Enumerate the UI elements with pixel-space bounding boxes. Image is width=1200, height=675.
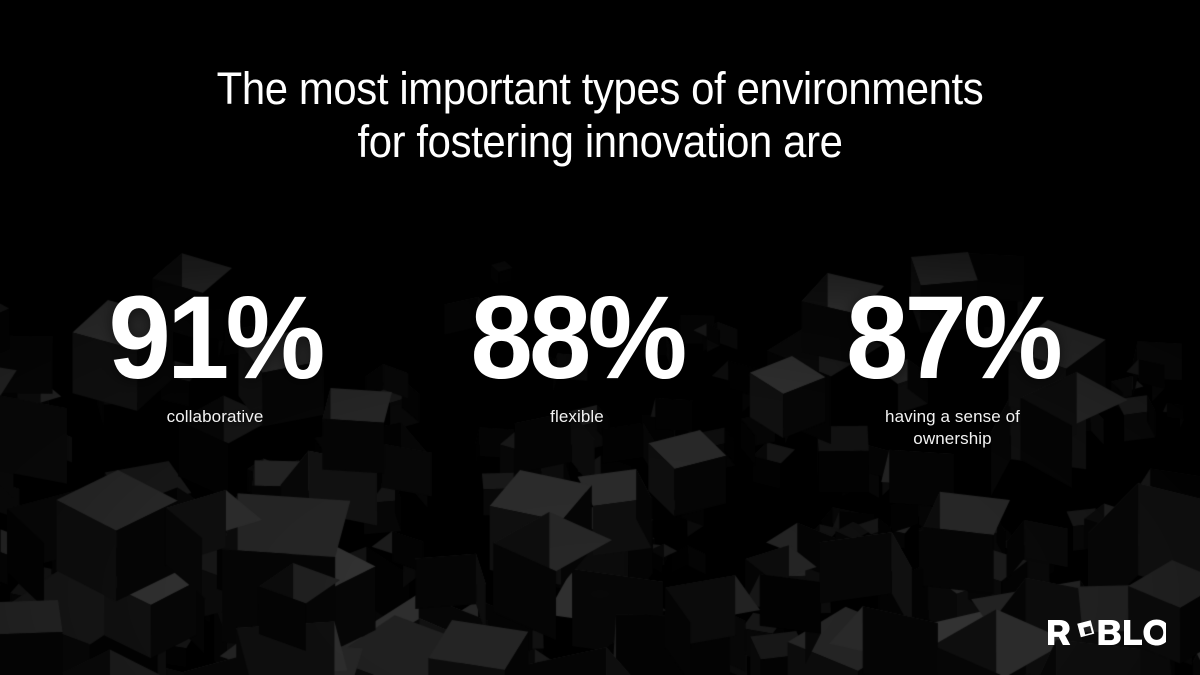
slide-canvas: The most important types of environments… bbox=[0, 0, 1200, 675]
roblox-wordmark-icon bbox=[1048, 619, 1166, 646]
stat-label: flexible bbox=[432, 406, 722, 428]
stat-group: 91% collaborative 88% flexible 87% havin… bbox=[0, 286, 1200, 486]
roblox-logo bbox=[1048, 616, 1166, 648]
stat-label: having a sense of ownership bbox=[800, 406, 1105, 450]
stat-value: 91% bbox=[73, 286, 358, 390]
stat-collaborative: 91% collaborative bbox=[65, 286, 365, 428]
slide-content: The most important types of environments… bbox=[0, 0, 1200, 675]
stat-ownership: 87% having a sense of ownership bbox=[800, 286, 1105, 450]
stat-flexible: 88% flexible bbox=[432, 286, 722, 428]
stat-value: 88% bbox=[439, 286, 715, 390]
stat-label: collaborative bbox=[65, 406, 365, 428]
headline: The most important types of environments… bbox=[42, 62, 1158, 168]
stat-value: 87% bbox=[808, 286, 1098, 390]
